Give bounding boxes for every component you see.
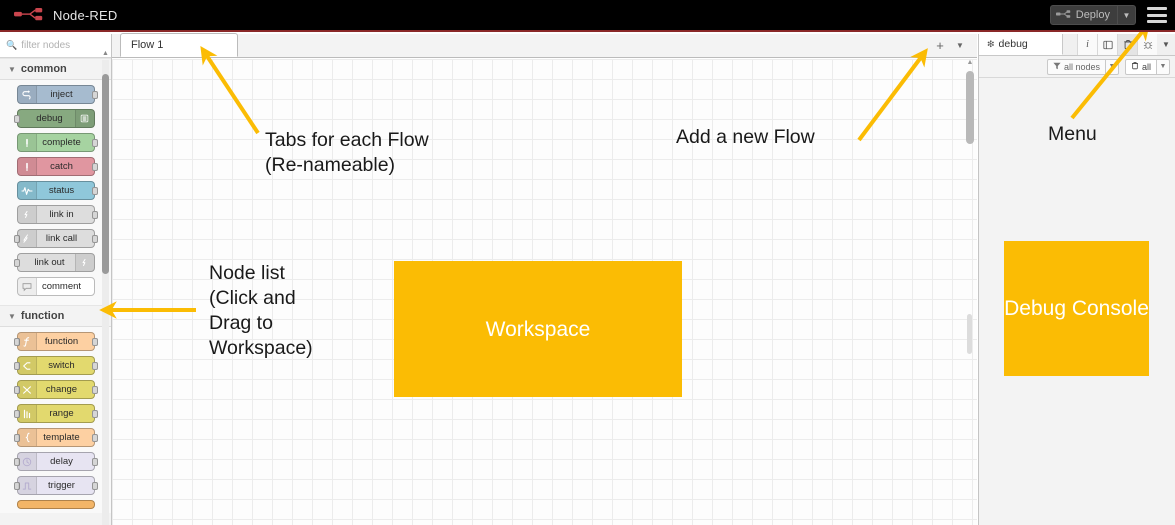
deploy-options-button[interactable]: ▼	[1118, 5, 1136, 25]
palette-category-body-function: functionswitchchangerangetemplatedelaytr…	[0, 327, 111, 513]
workspace-highlight-box: Workspace	[394, 261, 682, 397]
palette-category-function[interactable]: ▼function	[0, 305, 111, 327]
palette-filter-placeholder: filter nodes	[21, 40, 70, 51]
funnel-icon	[1053, 62, 1061, 72]
palette-node-link-call[interactable]: link call	[17, 229, 95, 248]
chevron-down-icon: ▼	[8, 65, 16, 74]
annotation-node-list: Node list (Click and Drag to Workspace)	[209, 261, 313, 361]
flow-menu-button[interactable]: ▼	[951, 36, 969, 54]
palette-node-delay[interactable]: delay	[17, 452, 95, 471]
palette-node-change[interactable]: change	[17, 380, 95, 399]
book-icon[interactable]	[1097, 34, 1117, 55]
deploy-button[interactable]: Deploy	[1050, 5, 1118, 25]
palette-node-partial[interactable]	[17, 500, 95, 509]
palette-node-label: switch	[18, 360, 94, 371]
palette-node-trigger[interactable]: trigger	[17, 476, 95, 495]
palette-node-template[interactable]: template	[17, 428, 95, 447]
sidebar-tools-menu-button[interactable]: ▼	[1157, 34, 1175, 55]
flow-tab-actions: + ▼	[931, 33, 977, 57]
debug-highlight-box: Debug Console	[1004, 241, 1149, 376]
palette-node-status[interactable]: status	[17, 181, 95, 200]
clear-messages-caret-icon[interactable]: ▼	[1157, 59, 1170, 75]
add-flow-button[interactable]: +	[931, 36, 949, 54]
palette-node-switch[interactable]: switch	[17, 356, 95, 375]
palette-node-label: inject	[18, 89, 94, 100]
palette-node-label: debug	[18, 113, 94, 124]
palette-node-label: complete	[18, 137, 94, 148]
palette-node-label: link in	[18, 209, 94, 220]
funnel-filter-label: all nodes	[1064, 62, 1100, 72]
deploy-icon	[1056, 9, 1071, 22]
canvas-scroll-thumb-secondary[interactable]	[967, 314, 972, 354]
palette-node-label: delay	[18, 456, 94, 467]
palette-category-body-common: injectdebugcompletecatchstatuslink inlin…	[0, 80, 111, 305]
palette-node-catch[interactable]: catch	[17, 157, 95, 176]
clear-messages-label: all	[1142, 62, 1151, 72]
sidebar-tools: i	[1077, 34, 1175, 55]
scroll-up-icon[interactable]: ▲	[102, 50, 109, 57]
header-actions: Deploy ▼	[1050, 5, 1175, 25]
flow-tab-label: Flow 1	[131, 39, 163, 51]
palette-node-debug[interactable]: debug	[17, 109, 95, 128]
app-title: Node-RED	[53, 8, 117, 23]
palette-node-label: link call	[18, 233, 94, 244]
palette-node-range[interactable]: range	[17, 404, 95, 423]
hamburger-menu-icon[interactable]	[1147, 7, 1167, 23]
brand: Node-RED	[14, 7, 117, 23]
flow-tab-bar: Flow 1 + ▼	[112, 34, 977, 58]
funnel-filter-button[interactable]: all nodes	[1047, 59, 1106, 75]
palette-node-label: function	[18, 336, 94, 347]
palette-scroll-thumb[interactable]	[102, 74, 109, 274]
palette-category-label: function	[21, 310, 64, 322]
chevron-down-icon: ▼	[8, 312, 16, 321]
deploy-label: Deploy	[1076, 9, 1110, 21]
debug-filter-row: all nodes ▼ all ▼	[979, 56, 1175, 78]
annotation-add-flow: Add a new Flow	[676, 125, 815, 150]
palette-category-label: common	[21, 63, 67, 75]
palette-filter[interactable]: 🔍 filter nodes	[0, 34, 111, 58]
debug-highlight-label: Debug Console	[1004, 295, 1149, 322]
clear-messages-button[interactable]: all	[1125, 59, 1157, 75]
sidebar-tab-label: debug	[999, 38, 1028, 50]
flow-tab-flow-1[interactable]: Flow 1	[120, 33, 238, 57]
sidebar-tab-row: ❇ debug i	[979, 34, 1175, 56]
funnel-filter-caret-icon[interactable]: ▼	[1106, 59, 1119, 75]
canvas-scroll-thumb[interactable]	[966, 71, 974, 144]
sidebar-tab-debug[interactable]: ❇ debug	[979, 34, 1063, 55]
palette-category-common[interactable]: ▼common	[0, 58, 111, 80]
palette-node-label: trigger	[18, 480, 94, 491]
annotation-menu: Menu	[1048, 122, 1097, 147]
palette-scrollbar[interactable]: ▲	[102, 60, 109, 525]
debug-node-filter[interactable]: all nodes ▼	[1047, 59, 1119, 75]
node-red-editor: Node-RED Deploy ▼ 🔍	[0, 0, 1175, 525]
debug-bug-icon[interactable]	[1137, 34, 1157, 55]
info-icon[interactable]: i	[1077, 34, 1097, 55]
node-palette: 🔍 filter nodes ▼commoninjectdebugcomplet…	[0, 34, 112, 525]
palette-node-function[interactable]: function	[17, 332, 95, 351]
bug-icon: ❇	[987, 39, 995, 50]
search-icon: 🔍	[6, 40, 17, 51]
palette-node-label: catch	[18, 161, 94, 172]
palette-node-link-in[interactable]: link in	[17, 205, 95, 224]
palette-node-label: change	[18, 384, 94, 395]
palette-node-link-out[interactable]: link out	[17, 253, 95, 272]
palette-categories: ▼commoninjectdebugcompletecatchstatuslin…	[0, 58, 111, 513]
trash-icon	[1131, 61, 1139, 72]
palette-node-inject[interactable]: inject	[17, 85, 95, 104]
trash-icon[interactable]	[1117, 34, 1137, 55]
palette-node-comment[interactable]: comment	[17, 277, 95, 296]
palette-node-label: template	[18, 432, 94, 443]
palette-node-label: status	[18, 185, 94, 196]
app-header: Node-RED Deploy ▼	[0, 0, 1175, 32]
palette-node-label: link out	[18, 257, 94, 268]
palette-node-complete[interactable]: complete	[17, 133, 95, 152]
annotation-tabs: Tabs for each Flow (Re-nameable)	[265, 128, 429, 178]
palette-node-label: range	[18, 408, 94, 419]
debug-clear-control[interactable]: all ▼	[1125, 59, 1170, 75]
palette-node-label: comment	[18, 281, 94, 292]
canvas-scroll-up-icon[interactable]: ▲	[966, 59, 974, 66]
canvas-scrollbar[interactable]: ▲	[966, 59, 974, 525]
node-red-logo-icon	[14, 7, 44, 23]
workspace-highlight-label: Workspace	[486, 316, 591, 343]
